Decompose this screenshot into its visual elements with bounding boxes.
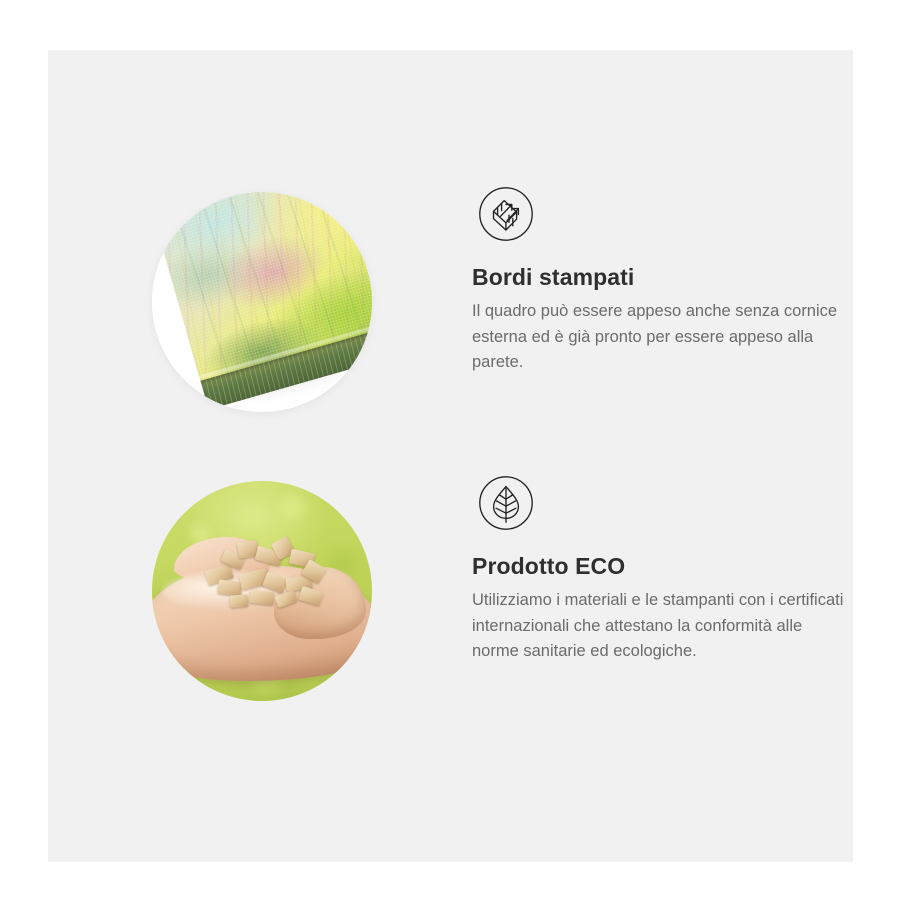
feature-description: Il quadro può essere appeso anche senza … bbox=[472, 299, 844, 374]
wood-chips-pile bbox=[204, 537, 338, 611]
feature-text-eco-product: Prodotto ECO Utilizziamo i materiali e l… bbox=[472, 553, 872, 664]
canvas-corner-photo bbox=[152, 192, 372, 412]
feature-title: Prodotto ECO bbox=[472, 553, 872, 579]
feature-text-printed-edges: Bordi stampati Il quadro può essere appe… bbox=[472, 264, 872, 375]
canvas-printed-edges-icon bbox=[478, 186, 534, 242]
feature-description: Utilizziamo i materiali e le stampanti c… bbox=[472, 588, 844, 663]
product-feature-page: Bordi stampati Il quadro può essere appe… bbox=[0, 0, 900, 900]
hands-with-wood-chips-photo bbox=[152, 481, 372, 701]
leaf-icon bbox=[478, 475, 534, 531]
feature-title: Bordi stampati bbox=[472, 264, 872, 290]
content-panel: Bordi stampati Il quadro può essere appe… bbox=[48, 50, 853, 862]
